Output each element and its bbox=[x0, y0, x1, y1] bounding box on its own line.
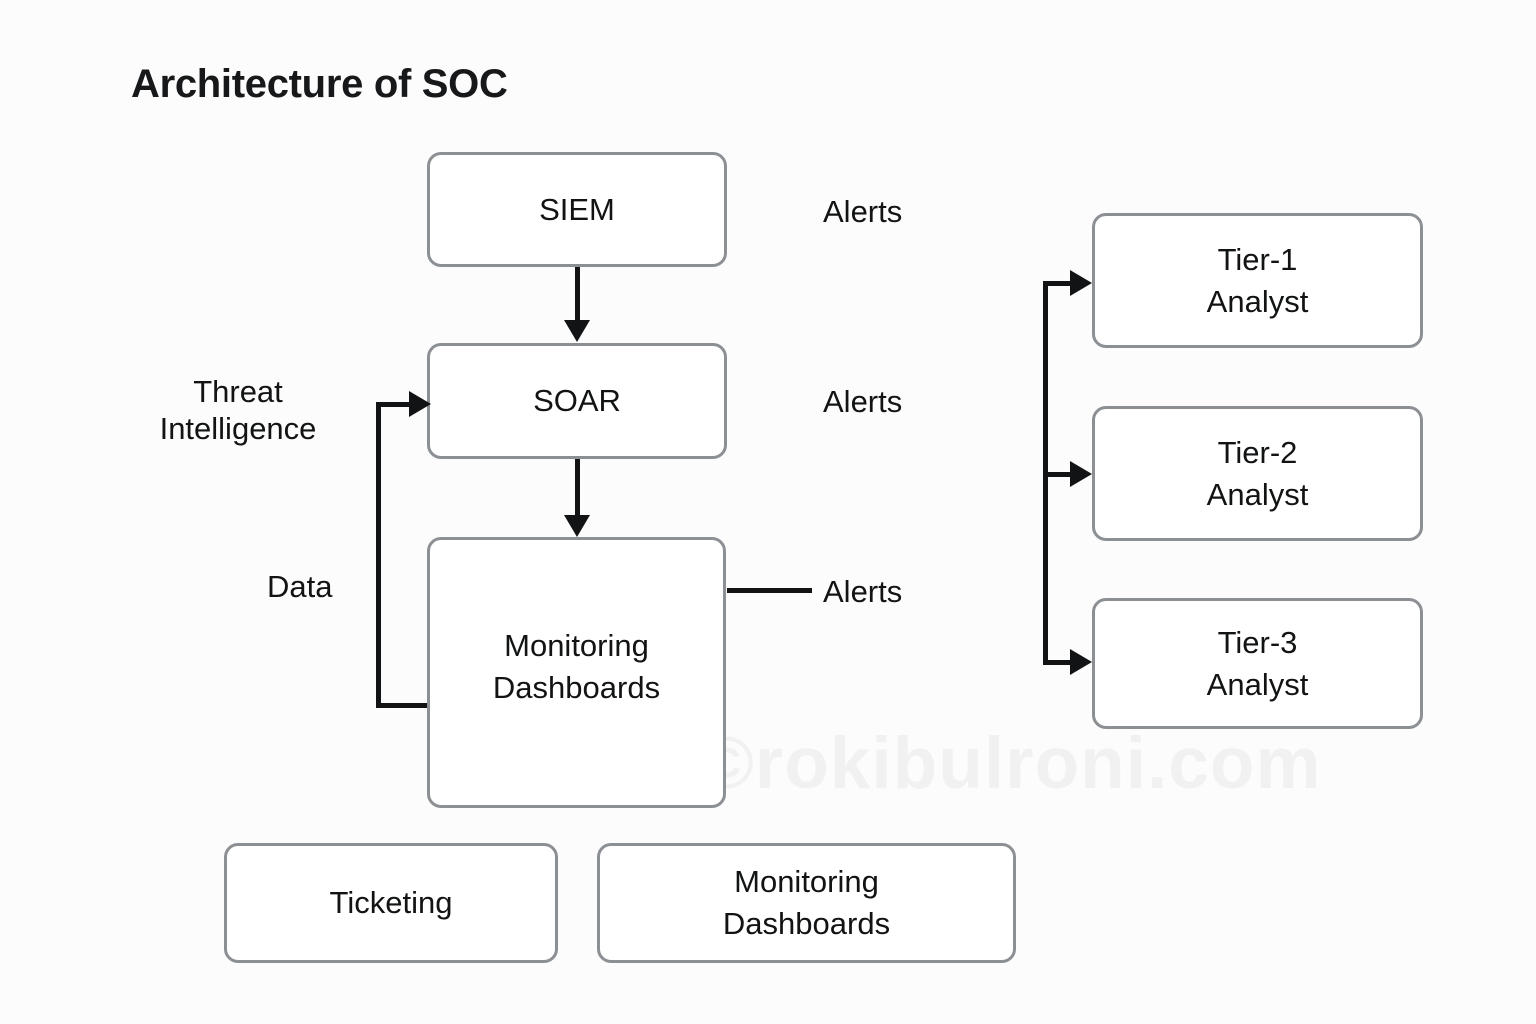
node-siem-label: SIEM bbox=[539, 189, 615, 231]
page-title: Architecture of SOC bbox=[131, 62, 508, 107]
edge-label-alerts-soar: Alerts bbox=[823, 383, 902, 420]
node-monitoring-dashboards-main-label: Monitoring Dashboards bbox=[493, 625, 660, 709]
node-monitoring-dashboards-bottom[interactable]: Monitoring Dashboards bbox=[597, 843, 1016, 963]
edge-label-data: Data bbox=[267, 568, 332, 605]
node-tier3-analyst[interactable]: Tier-3 Analyst bbox=[1092, 598, 1423, 729]
node-soar-label: SOAR bbox=[533, 380, 621, 422]
tier1-branch-arrowhead bbox=[1070, 270, 1092, 296]
edge-label-alerts-dashboards: Alerts bbox=[823, 573, 902, 610]
edge-siem-to-soar-line bbox=[575, 267, 580, 322]
node-soar[interactable]: SOAR bbox=[427, 343, 727, 459]
node-tier1-analyst[interactable]: Tier-1 Analyst bbox=[1092, 213, 1423, 348]
node-monitoring-dashboards-main[interactable]: Monitoring Dashboards bbox=[427, 537, 726, 808]
watermark-text: ©rokibulroni.com bbox=[700, 722, 1321, 805]
feedback-loop-bottom-segment bbox=[376, 703, 431, 708]
node-siem[interactable]: SIEM bbox=[427, 152, 727, 267]
edge-soar-to-dashboards-line bbox=[575, 459, 580, 517]
edge-soar-to-dashboards-arrowhead bbox=[564, 515, 590, 537]
node-tier1-analyst-label: Tier-1 Analyst bbox=[1207, 239, 1309, 323]
node-tier3-analyst-label: Tier-3 Analyst bbox=[1207, 622, 1309, 706]
feedback-loop-arrowhead bbox=[409, 391, 431, 417]
node-tier2-analyst-label: Tier-2 Analyst bbox=[1207, 432, 1309, 516]
tier3-branch-arrowhead bbox=[1070, 649, 1092, 675]
diagram-canvas: Architecture of SOC ©rokibulroni.com SIE… bbox=[0, 0, 1536, 1024]
node-ticketing[interactable]: Ticketing bbox=[224, 843, 558, 963]
feedback-loop-vertical-segment bbox=[376, 402, 381, 707]
node-tier2-analyst[interactable]: Tier-2 Analyst bbox=[1092, 406, 1423, 541]
tier2-branch-arrowhead bbox=[1070, 461, 1092, 487]
node-monitoring-dashboards-bottom-label: Monitoring Dashboards bbox=[723, 861, 890, 945]
node-ticketing-label: Ticketing bbox=[330, 882, 453, 924]
edge-label-threat-intelligence: Threat Intelligence bbox=[128, 373, 348, 447]
edge-siem-to-soar-arrowhead bbox=[564, 320, 590, 342]
edge-dashboards-to-alerts-line bbox=[727, 588, 812, 593]
edge-label-alerts-siem: Alerts bbox=[823, 193, 902, 230]
